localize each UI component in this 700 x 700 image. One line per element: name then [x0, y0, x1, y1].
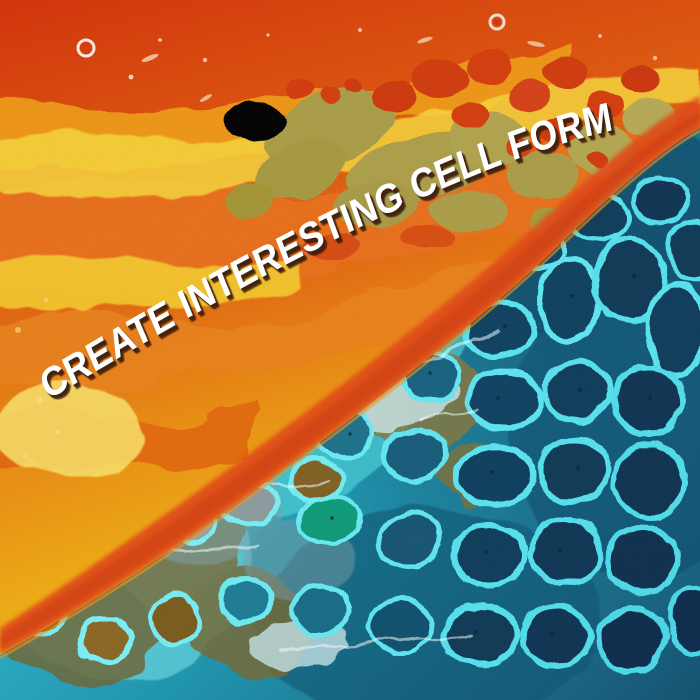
- artwork-canvas: CREATE INTERESTING CELL FORMATIONS AND P…: [0, 0, 700, 700]
- paint-grain-texture: [0, 0, 700, 700]
- pour-painting-base: [0, 0, 700, 700]
